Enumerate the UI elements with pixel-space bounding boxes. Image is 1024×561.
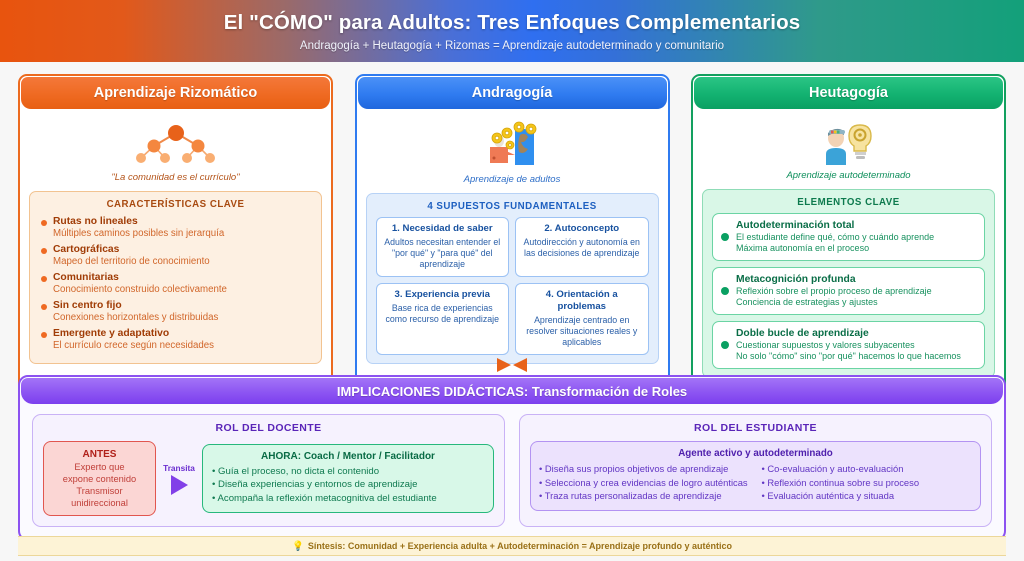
student-bullet: • Diseña sus propios objetivos de aprend… <box>539 462 750 476</box>
element-line2: Máxima autonomía en el proceso <box>736 243 934 254</box>
teacher-globe-gears-icon <box>482 121 542 169</box>
feature-desc: Múltiples caminos posibles sin jerarquía <box>53 228 312 240</box>
feature-desc: Mapeo del territorio de conocimiento <box>53 256 312 268</box>
andragogia-icon-caption: Aprendizaje de adultos <box>464 174 561 185</box>
student-bullets-right: • Co-evaluación y auto-evaluación • Refl… <box>762 462 973 503</box>
rizomatico-panel-title: CARACTERÍSTICAS CLAVE <box>39 199 312 210</box>
assumption-cell: 3. Experiencia previa Base rica de exper… <box>376 283 510 355</box>
role-estudiante-title: ROL DEL ESTUDIANTE <box>530 422 981 434</box>
student-bullet: • Evaluación auténtica y situada <box>762 489 973 503</box>
page-header: El "CÓMO" para Adultos: Tres Enfoques Co… <box>0 0 1024 62</box>
assumption-desc: Adultos necesitan entender el "por qué" … <box>382 237 504 270</box>
transita-label: Transita <box>163 463 195 473</box>
connector-row <box>0 356 1024 374</box>
transition-indicator: Transita <box>156 463 202 495</box>
assumption-desc: Autodirección y autonomía en las decisio… <box>521 237 643 259</box>
assumption-cell: 4. Orientación a problemas Aprendizaje c… <box>515 283 649 355</box>
element-line1: Reflexión sobre el propio proceso de apr… <box>736 286 932 297</box>
heutagogia-elements-panel: ELEMENTOS CLAVE Autodeterminación total … <box>702 189 995 378</box>
approach-cards-row: Aprendizaje Rizomático <box>0 74 1024 402</box>
heutagogia-panel-title: ELEMENTOS CLAVE <box>712 197 985 208</box>
card-heutagogia: Heutagogía <box>691 74 1006 402</box>
bowtie-arrows-icon <box>497 358 527 372</box>
arrow-right-icon <box>497 358 511 372</box>
antes-line2: expone contenido <box>48 473 151 485</box>
element-line1: Cuestionar supuestos y valores subyacent… <box>736 340 961 351</box>
role-docente-panel: ROL DEL DOCENTE ANTES Experto que expone… <box>32 414 505 527</box>
page-title: El "CÓMO" para Adultos: Tres Enfoques Co… <box>224 11 800 35</box>
bullet-dot-icon <box>721 341 729 349</box>
feature-desc: Conexiones horizontales y distribuidas <box>53 312 312 324</box>
student-bullet: • Traza rutas personalizadas de aprendiz… <box>539 489 750 503</box>
role-estudiante-panel: ROL DEL ESTUDIANTE Agente activo y autod… <box>519 414 992 527</box>
feature-term: Sin centro fijo <box>53 299 312 312</box>
rizomatico-icon-caption: "La comunidad es el currículo" <box>111 172 239 183</box>
feature-item: Sin centro fijo Conexiones horizontales … <box>39 299 312 324</box>
antes-box: ANTES Experto que expone contenido Trans… <box>43 441 156 516</box>
roles-row: ROL DEL DOCENTE ANTES Experto que expone… <box>20 405 1004 539</box>
assumption-cell: 1. Necesidad de saber Adultos necesitan … <box>376 217 510 277</box>
antes-label: ANTES <box>48 448 151 461</box>
card-title-heutagogia: Heutagogía <box>694 77 1003 109</box>
andragogia-assumptions-panel: 4 SUPUESTOS FUNDAMENTALES 1. Necesidad d… <box>366 193 659 364</box>
bullet-dot-icon <box>41 220 47 226</box>
bullet-dot-icon <box>41 248 47 254</box>
page-subtitle: Andragogía + Heutagogía + Rizomas = Apre… <box>300 40 724 52</box>
student-bullet: • Co-evaluación y auto-evaluación <box>762 462 973 476</box>
implications-section: IMPLICACIONES DIDÁCTICAS: Transformación… <box>18 375 1006 541</box>
assumption-title: 4. Orientación a problemas <box>521 289 643 313</box>
student-bullet: • Selecciona y crea evidencias de logro … <box>539 476 750 490</box>
assumption-title: 3. Experiencia previa <box>382 289 504 301</box>
antes-line1: Experto que <box>48 461 151 473</box>
element-line1: El estudiante define qué, cómo y cuándo … <box>736 232 934 243</box>
feature-term: Cartográficas <box>53 243 312 256</box>
assumption-cell: 2. Autoconcepto Autodirección y autonomí… <box>515 217 649 277</box>
bullet-dot-icon <box>721 233 729 241</box>
bullet-dot-icon <box>41 304 47 310</box>
heutagogia-icon-block: Aprendizaje autodeterminado <box>702 121 995 181</box>
lightbulb-icon: 💡 <box>292 541 304 552</box>
role-docente-title: ROL DEL DOCENTE <box>43 422 494 434</box>
student-bullets-left: • Diseña sus propios objetivos de aprend… <box>539 462 750 503</box>
element-item: Metacognición profunda Reflexión sobre e… <box>712 267 985 315</box>
ahora-bullet: • Diseña experiencias y entornos de apre… <box>212 478 484 492</box>
feature-desc: El currículo crece según necesidades <box>53 340 312 352</box>
card-andragogia: Andragogía <box>355 74 670 402</box>
feature-term: Emergente y adaptativo <box>53 327 312 340</box>
rhizome-network-icon <box>130 121 222 167</box>
synthesis-text: Síntesis: Comunidad + Experiencia adulta… <box>308 541 732 551</box>
element-title: Autodeterminación total <box>736 219 934 232</box>
arrow-right-icon <box>171 475 188 495</box>
assumption-desc: Base rica de experiencias como recurso d… <box>382 303 504 325</box>
synthesis-footer: 💡 Síntesis: Comunidad + Experiencia adul… <box>18 536 1006 556</box>
feature-item: Rutas no lineales Múltiples caminos posi… <box>39 215 312 240</box>
student-bullet: • Reflexión continua sobre su proceso <box>762 476 973 490</box>
feature-desc: Conocimiento construido colectivamente <box>53 284 312 296</box>
ahora-title: AHORA: Coach / Mentor / Facilitador <box>212 451 484 462</box>
feature-item: Emergente y adaptativo El currículo crec… <box>39 327 312 352</box>
feature-term: Rutas no lineales <box>53 215 312 228</box>
rizomatico-features-panel: CARACTERÍSTICAS CLAVE Rutas no lineales … <box>29 191 322 364</box>
antes-line3: Transmisor <box>48 485 151 497</box>
ahora-box: AHORA: Coach / Mentor / Facilitador • Gu… <box>202 444 494 514</box>
assumption-desc: Aprendizaje centrado en resolver situaci… <box>521 315 643 348</box>
card-title-andragogia: Andragogía <box>358 77 667 109</box>
bullet-dot-icon <box>721 287 729 295</box>
student-agent-box: Agente activo y autodeterminado • Diseña… <box>530 441 981 511</box>
person-lightbulb-icon <box>820 121 878 165</box>
arrow-left-icon <box>513 358 527 372</box>
bullet-dot-icon <box>41 332 47 338</box>
ahora-bullet: • Guía el proceso, no dicta el contenido <box>212 465 484 479</box>
antes-line4: unidireccional <box>48 497 151 509</box>
feature-item: Comunitarias Conocimiento construido col… <box>39 271 312 296</box>
implications-header: IMPLICACIONES DIDÁCTICAS: Transformación… <box>21 378 1003 404</box>
element-title: Metacognición profunda <box>736 273 932 286</box>
infographic-page: El "CÓMO" para Adultos: Tres Enfoques Co… <box>0 0 1024 561</box>
assumption-title: 1. Necesidad de saber <box>382 223 504 235</box>
element-title: Doble bucle de aprendizaje <box>736 327 961 340</box>
rizomatico-icon-block: "La comunidad es el currículo" <box>29 121 322 183</box>
element-item: Autodeterminación total El estudiante de… <box>712 213 985 261</box>
assumption-title: 2. Autoconcepto <box>521 223 643 235</box>
andragogia-panel-title: 4 SUPUESTOS FUNDAMENTALES <box>376 201 649 212</box>
feature-term: Comunitarias <box>53 271 312 284</box>
card-aprendizaje-rizomatico: Aprendizaje Rizomático <box>18 74 333 402</box>
heutagogia-icon-caption: Aprendizaje autodeterminado <box>786 170 910 181</box>
student-subtitle: Agente activo y autodeterminado <box>539 448 972 459</box>
assumptions-grid: 1. Necesidad de saber Adultos necesitan … <box>376 217 649 355</box>
feature-item: Cartográficas Mapeo del territorio de co… <box>39 243 312 268</box>
ahora-bullet: • Acompaña la reflexión metacognitiva de… <box>212 492 484 506</box>
andragogia-icon-block: Aprendizaje de adultos <box>366 121 659 185</box>
element-line2: Conciencia de estrategias y ajustes <box>736 297 932 308</box>
bullet-dot-icon <box>41 276 47 282</box>
card-title-rizomatico: Aprendizaje Rizomático <box>21 77 330 109</box>
